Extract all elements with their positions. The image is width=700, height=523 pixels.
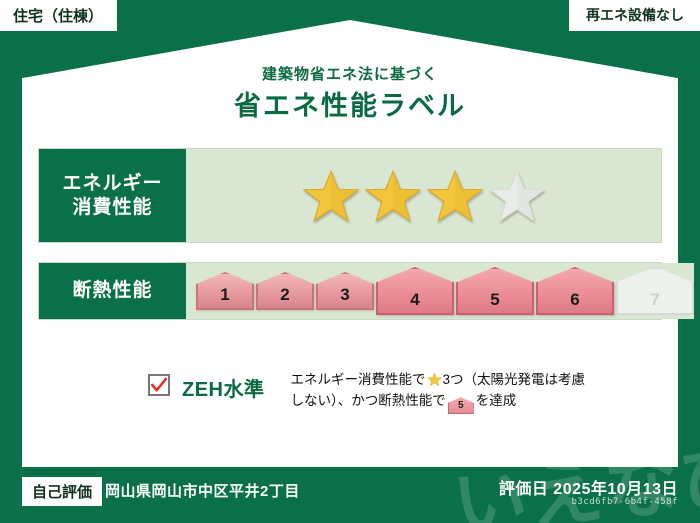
insulation-row-label: 断熱性能 xyxy=(39,263,186,319)
insulation-grade-badge: 2 xyxy=(256,272,314,310)
check-icon xyxy=(150,376,168,394)
insulation-performance-row: 断熱性能 1 2 3 4 5 6 xyxy=(38,262,662,320)
zeh-desc-part1: エネルギー消費性能で xyxy=(291,372,426,387)
evaluation-date-label: 評価日 xyxy=(499,481,549,498)
evaluation-id: b3cd6fb7-6b4f-458f xyxy=(571,497,678,507)
zeh-desc-part2: 3つ（太陽光発電 xyxy=(443,372,545,387)
evaluation-date-value: 2025年10月13日 xyxy=(553,481,678,498)
energy-performance-label: いえなび 住宅（住棟） 再エネ設備なし 建築物省エネ法に基づく 省エネ性能ラベル… xyxy=(0,0,700,523)
label-subtitle: 建築物省エネ法に基づく xyxy=(0,63,700,84)
insulation-grade-badge: 7 xyxy=(616,267,694,315)
insulation-grade-badge: 4 xyxy=(376,267,454,315)
insulation-grade-badge: 6 xyxy=(536,267,614,315)
evaluation-type-badge: 自己評価 xyxy=(22,477,102,506)
energy-star-rating xyxy=(186,149,661,242)
energy-label-line2: 消費性能 xyxy=(72,196,152,220)
property-address: 岡山県岡山市中区平井2丁目 xyxy=(105,480,300,501)
insulation-grade-scale: 1 2 3 4 5 6 7 xyxy=(186,263,694,319)
energy-performance-row: エネルギー 消費性能 xyxy=(38,148,662,243)
insulation-grade-badge: 3 xyxy=(316,272,374,310)
zeh-standard-block: ZEH水準 エネルギー消費性能で3つ（太陽光発電は考慮しない）、かつ断熱性能で5… xyxy=(148,370,591,414)
zeh-standard-label: ZEH水準 xyxy=(182,373,265,402)
energy-performance-row-label: エネルギー 消費性能 xyxy=(39,149,186,242)
footer-bar: 自己評価 岡山県岡山市中区平井2丁目 評価日 2025年10月13日 b3cd6… xyxy=(0,467,700,523)
insulation-grade-badge: 5 xyxy=(456,267,534,315)
zeh-checkbox xyxy=(148,374,170,396)
star-icon-filled-3 xyxy=(427,169,483,223)
inline-grade-badge: 5 xyxy=(448,397,474,414)
evaluation-date: 評価日 2025年10月13日 xyxy=(499,475,678,499)
star-icon-inline xyxy=(427,372,442,387)
building-type-tag: 住宅（住棟） xyxy=(0,0,118,32)
star-icon-empty-4 xyxy=(489,169,545,223)
star-icon-filled-1 xyxy=(303,169,359,223)
label-title: 省エネ性能ラベル xyxy=(0,84,700,123)
zeh-description: エネルギー消費性能で3つ（太陽光発電は考慮しない）、かつ断熱性能で5を達成 xyxy=(291,370,591,414)
zeh-desc-part4: を達成 xyxy=(476,393,517,408)
star-icon-filled-2 xyxy=(365,169,421,223)
energy-label-line1: エネルギー xyxy=(62,172,162,196)
renewable-energy-tag: 再エネ設備なし xyxy=(568,0,700,32)
insulation-grade-badge: 1 xyxy=(196,272,254,310)
